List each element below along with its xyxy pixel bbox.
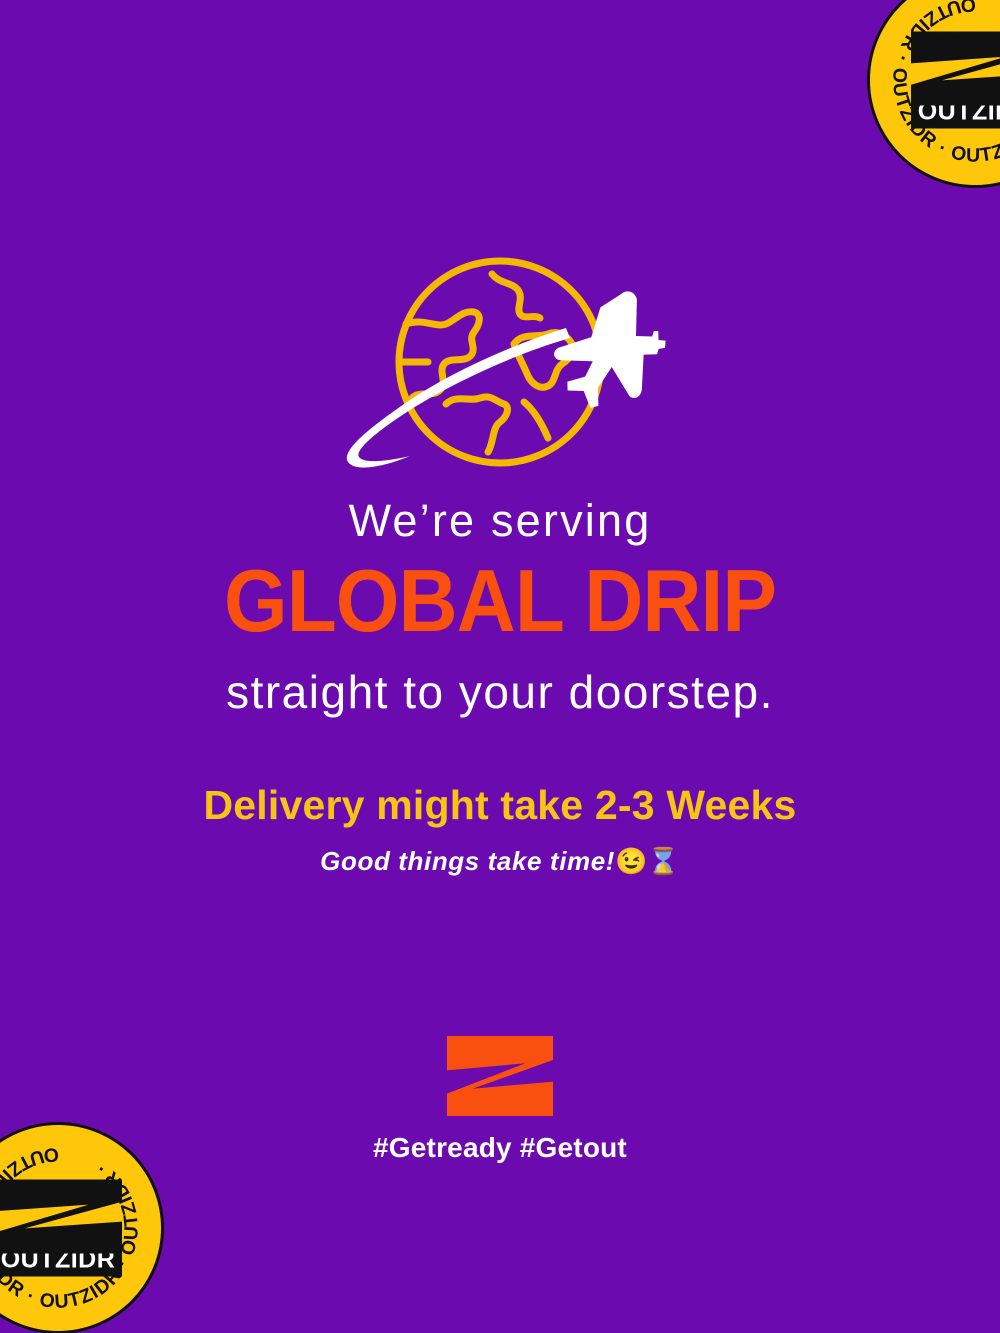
outzidr-z-logo: [911, 32, 1000, 106]
copy-block: We’re serving GLOBAL DRIP straight to yo…: [0, 498, 1000, 874]
promo-poster: We’re serving GLOBAL DRIP straight to yo…: [0, 0, 1000, 1333]
stamp-core-bottom-left: OUTZIDR: [0, 1180, 124, 1277]
delivery-estimate-text: Delivery might take 2-3 Weeks: [0, 785, 1000, 826]
corner-stamp-bottom-left: OUTZIDR · OUTZIDR · OUTZIDR · OUTZIDR · …: [0, 1122, 164, 1333]
stamp-core-top-right: OUTZIDR: [909, 32, 1000, 129]
airplane-icon: [539, 286, 672, 425]
globe-with-airplane-icon: [328, 252, 672, 478]
eyebrow-text: We’re serving: [0, 498, 1000, 543]
wink-hourglass-emoji: 😉⌛: [615, 846, 680, 876]
outzidr-z-logo: [0, 1180, 122, 1254]
headline-text: GLOBAL DRIP: [35, 557, 965, 645]
subhead-text: straight to your doorstep.: [0, 669, 1000, 715]
hashtags-text: #Getready #Getout: [373, 1134, 627, 1162]
outzidr-z-logo: [447, 1036, 553, 1116]
globe-plane-svg: [328, 252, 672, 478]
reassurance-line: Good things take time!😉⌛: [0, 848, 1000, 874]
reassurance-text: Good things take time!: [320, 846, 615, 876]
corner-stamp-top-right: OUTZIDR · OUTZIDR · OUTZIDR · OUTZIDR · …: [867, 0, 1000, 188]
